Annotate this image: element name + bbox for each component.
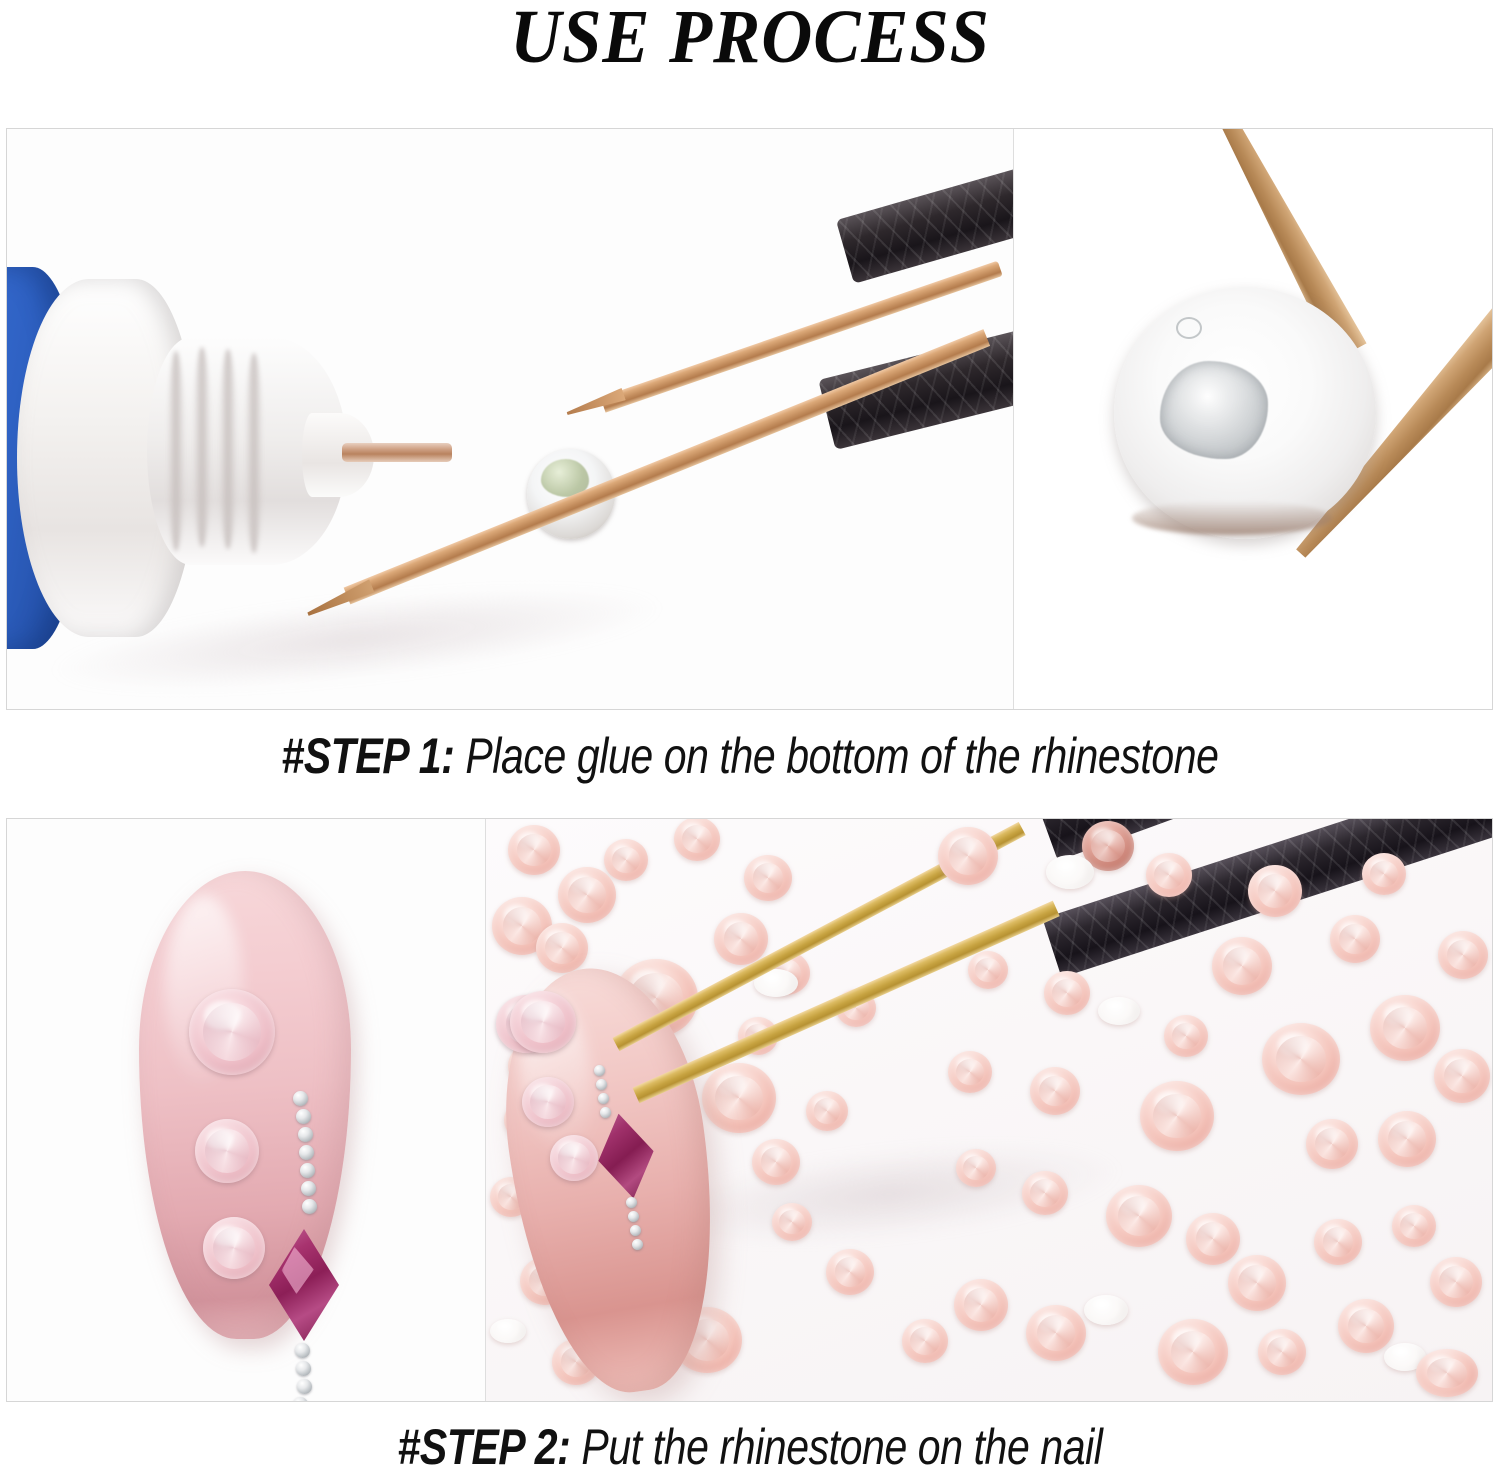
rhinestone-icon (1370, 995, 1440, 1061)
rhinestone-icon (1212, 937, 1272, 995)
rhinestone-icon (948, 1051, 992, 1093)
page-title: USE PROCESS (53, 0, 1448, 76)
rhinestone-icon (752, 1139, 800, 1185)
rhinestone-icon (772, 1203, 812, 1241)
rhinestone-icon (1338, 1299, 1394, 1353)
caviar-bead-icon (296, 1109, 311, 1124)
panel-glue-bottle (7, 129, 1013, 709)
panel-stone-closeup (1013, 129, 1492, 709)
rhinestone-icon (1362, 853, 1406, 895)
rhinestone-icon (1140, 1081, 1214, 1151)
caviar-bead-icon (295, 1343, 310, 1358)
rhinestone-icon (744, 855, 792, 901)
rhinestone-icon (902, 1319, 948, 1363)
rhinestone-icon (195, 1119, 259, 1183)
rhinestone-icon (522, 1077, 574, 1127)
rhinestone-flat-back-icon (1084, 1295, 1128, 1325)
caviar-bead-icon (296, 1361, 311, 1376)
rhinestone-icon (956, 1149, 996, 1187)
caviar-bead-icon (297, 1379, 312, 1394)
caviar-bead-icon (293, 1091, 308, 1106)
step-1-text: Place glue on the bottom of the rhinesto… (465, 728, 1218, 784)
rhinestone-icon (508, 825, 560, 875)
rhinestone-icon (1258, 1329, 1306, 1375)
rhinestone-icon (702, 1063, 776, 1133)
rhinestone-icon (954, 1279, 1008, 1331)
caviar-bead-icon (630, 1225, 641, 1236)
rhinestone-icon (1164, 1015, 1208, 1057)
rhinestone-icon (1186, 1213, 1240, 1265)
step-1-image-row (6, 128, 1493, 710)
panel-finished-nail (7, 819, 485, 1401)
caviar-bead-icon (594, 1065, 605, 1076)
rhinestone-icon (968, 951, 1008, 989)
rhinestone-icon (1330, 915, 1380, 963)
rhinestone-icon (674, 819, 720, 861)
step-1-caption: #STEP 1: Place glue on the bottom of the… (135, 727, 1365, 785)
caviar-bead-icon (596, 1079, 607, 1090)
rhinestone-icon (1146, 853, 1192, 897)
caviar-bead-icon (600, 1107, 611, 1118)
rhinestone-flat-back-icon (1046, 855, 1094, 889)
rhinestone-icon (1158, 1319, 1228, 1385)
glue-bubble (1176, 317, 1202, 339)
step-1-label: #STEP 1: (281, 728, 454, 784)
rhinestone-icon (1022, 1171, 1068, 1215)
rhinestone-flat-back-icon (490, 1319, 526, 1343)
glue-bottle-icon (7, 267, 367, 649)
rhinestone-icon (1044, 971, 1090, 1015)
panel-applying-stone (485, 819, 1492, 1401)
caviar-bead-icon (598, 1093, 609, 1104)
rhinestone-icon (536, 923, 588, 973)
bottle-needle (342, 443, 452, 462)
rhinestone-icon (1248, 865, 1302, 917)
rhinestone-icon (714, 913, 768, 965)
rhinestone-icon (558, 867, 616, 923)
step-2-text: Put the rhinestone on the nail (581, 1419, 1102, 1466)
use-process-infographic: USE PROCESS (0, 0, 1500, 1466)
rhinestone-icon (1416, 1349, 1478, 1397)
rhinestone-icon (1430, 1257, 1482, 1307)
glue-blob (1160, 361, 1268, 459)
rhinestone-icon (1262, 1023, 1340, 1095)
rhinestone-icon (1306, 1119, 1358, 1169)
rhinestone-icon (1228, 1255, 1286, 1311)
caviar-bead-icon (626, 1197, 637, 1208)
caviar-bead-icon (298, 1127, 313, 1142)
rhinestone-icon (1026, 1305, 1086, 1361)
rhinestone-icon (1030, 1067, 1080, 1115)
rhinestone-icon (1106, 1185, 1172, 1247)
caviar-bead-icon (301, 1181, 316, 1196)
caviar-bead-icon (628, 1211, 639, 1222)
rhinestone-icon (1392, 1205, 1436, 1247)
caviar-bead-icon (632, 1239, 643, 1250)
caviar-bead-icon (302, 1199, 317, 1214)
rhinestone-held-icon (510, 991, 576, 1053)
rhinestone-icon (550, 1135, 598, 1181)
rhinestone-icon (1438, 931, 1488, 979)
step-2-caption: #STEP 2: Put the rhinestone on the nail (135, 1418, 1365, 1466)
caviar-bead-icon (300, 1163, 315, 1178)
rhinestone-rim (1132, 501, 1332, 535)
rhinestone-icon (1434, 1049, 1490, 1103)
rhinestone-flat-back-icon (1098, 997, 1140, 1025)
caviar-bead-icon (299, 1145, 314, 1160)
step-2-image-row (6, 818, 1493, 1402)
rhinestone-icon (938, 827, 998, 885)
rhinestone-icon (826, 1249, 874, 1295)
rhinestone-icon (203, 1217, 265, 1279)
rhinestone-icon (1378, 1111, 1436, 1167)
rhinestone-icon (189, 989, 275, 1075)
rhinestone-icon (806, 1091, 848, 1131)
step-2-label: #STEP 2: (397, 1419, 570, 1466)
rhinestone-icon (604, 839, 648, 881)
rhinestone-icon (1314, 1219, 1362, 1265)
rhinestone-icon (1114, 287, 1376, 539)
